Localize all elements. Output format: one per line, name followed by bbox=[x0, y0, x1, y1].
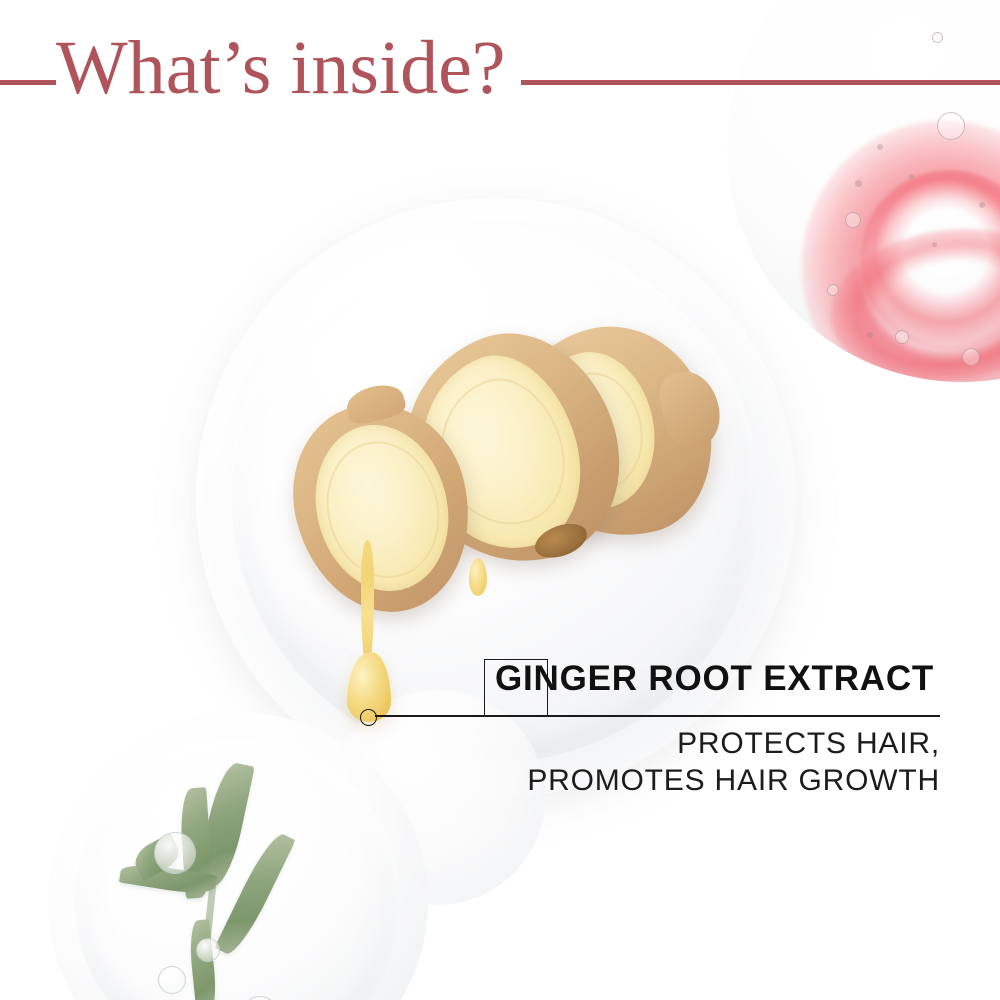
oil-drip-small bbox=[465, 558, 491, 602]
serum-bubble-dot bbox=[845, 212, 861, 228]
serum-bubble-dot bbox=[932, 242, 937, 247]
pink-serum-bubble bbox=[727, 0, 1000, 382]
serum-bubble-dot bbox=[979, 202, 985, 208]
oil-droplet bbox=[469, 558, 487, 596]
serum-bubble-dot bbox=[962, 348, 980, 366]
water-bubble bbox=[158, 966, 186, 994]
serum-bubble-dot bbox=[937, 112, 965, 140]
serum-bubble-dot bbox=[909, 174, 914, 179]
oil-droplet-highlight bbox=[12, 126, 24, 142]
water-bubble bbox=[196, 938, 220, 962]
serum-bubble-dot bbox=[867, 332, 873, 338]
oil-drip bbox=[344, 540, 398, 730]
page-title: What’s inside? bbox=[56, 30, 506, 106]
title-rule-left bbox=[0, 80, 56, 85]
serum-bubble-dot bbox=[877, 144, 883, 150]
water-bubble bbox=[242, 996, 278, 1000]
serum-bubble-dot bbox=[855, 180, 862, 187]
serum-bubble-dot bbox=[895, 330, 909, 344]
poster-canvas: What’s inside? GINGER ROOT EXTRACT PROTE… bbox=[0, 0, 1000, 1000]
serum-bubble-dot bbox=[827, 284, 839, 296]
sage-sprig bbox=[96, 770, 346, 1000]
title-rule-right bbox=[521, 80, 1000, 85]
oil-stream bbox=[361, 540, 374, 668]
oil-droplet bbox=[347, 652, 391, 722]
water-bubble bbox=[154, 832, 196, 874]
serum-bubble-dot bbox=[932, 32, 943, 43]
